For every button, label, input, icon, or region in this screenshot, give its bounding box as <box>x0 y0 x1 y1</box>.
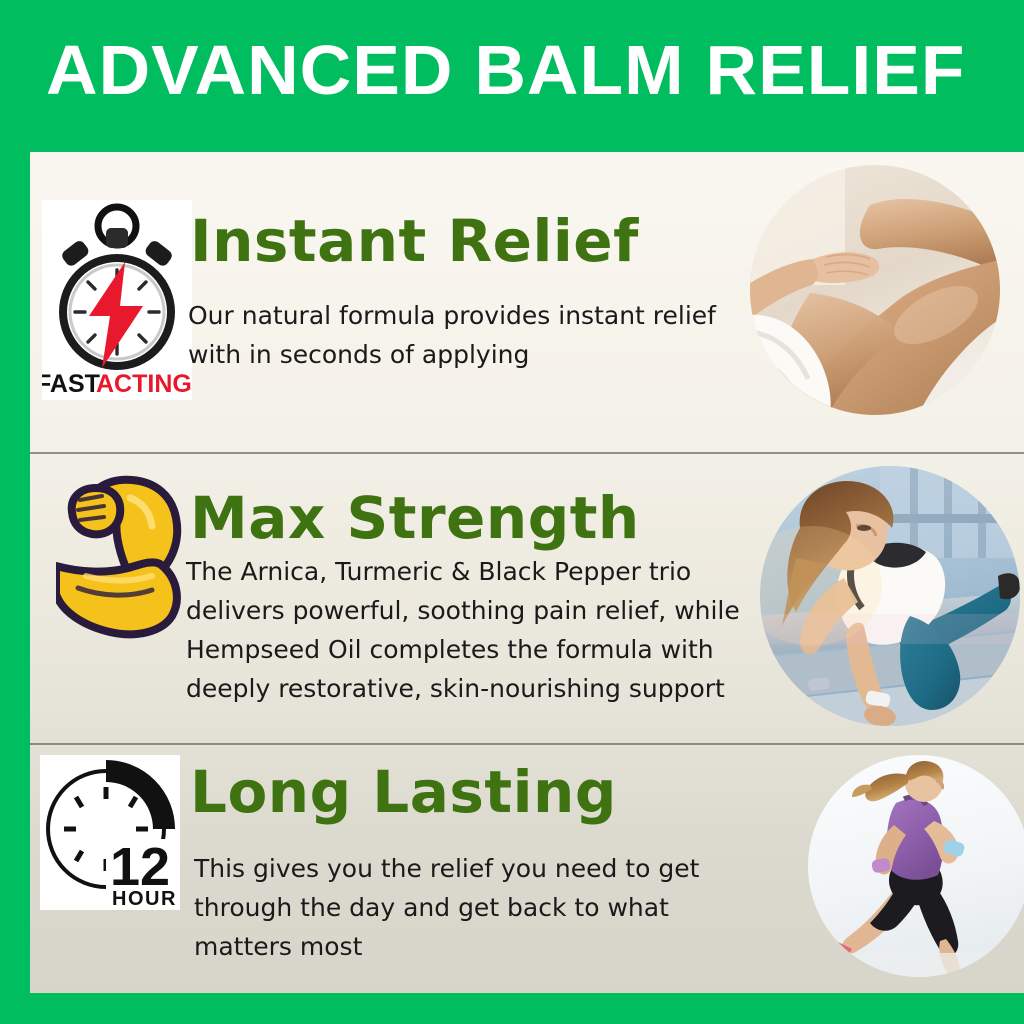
clock-hour-label: HOUR <box>112 888 177 910</box>
feature-heading-max-strength: Max Strength <box>190 484 640 552</box>
advanced-balm-relief-infographic: ADVANCED BALM RELIEF <box>0 0 1024 1024</box>
woman-stretching-illustration <box>760 466 1020 726</box>
twelve-hour-clock-svg: 12 HOUR <box>40 755 180 910</box>
feature-row-max-strength: Max Strength The Arnica, Turmeric & Blac… <box>30 454 1024 743</box>
header-band: ADVANCED BALM RELIEF <box>0 0 1024 152</box>
feature-body-max-strength: The Arnica, Turmeric & Black Pepper trio… <box>186 552 786 708</box>
feature-row-long-lasting: 12 HOUR Long Lasting This gives you the … <box>30 745 1024 993</box>
feature-body-long-lasting: This gives you the relief you need to ge… <box>194 849 754 966</box>
woman-stretching-photo <box>760 466 1020 726</box>
woman-running-photo <box>808 755 1024 977</box>
feature-row-instant-relief: FAST ACTING Instant Relief Our natural f… <box>30 152 1024 452</box>
acting-label: ACTING <box>96 370 192 398</box>
feature-body-instant-relief: Our natural formula provides instant rel… <box>188 296 728 374</box>
woman-running-illustration <box>808 755 1024 977</box>
stopwatch-fast-acting-icon: FAST ACTING <box>42 200 192 400</box>
features-panel: FAST ACTING Instant Relief Our natural f… <box>30 152 1024 993</box>
flexed-bicep-icon <box>56 472 206 642</box>
flexed-bicep-icon-svg <box>56 472 206 642</box>
leg-massage-illustration <box>750 165 1000 415</box>
twelve-hour-clock-icon: 12 HOUR <box>40 755 180 910</box>
stopwatch-icon-svg: FAST ACTING <box>42 200 192 400</box>
feature-heading-long-lasting: Long Lasting <box>190 758 617 826</box>
page-title: ADVANCED BALM RELIEF <box>46 33 1015 107</box>
leg-massage-photo <box>750 165 1000 415</box>
fast-label: FAST <box>42 370 100 398</box>
feature-heading-instant-relief: Instant Relief <box>190 207 639 275</box>
